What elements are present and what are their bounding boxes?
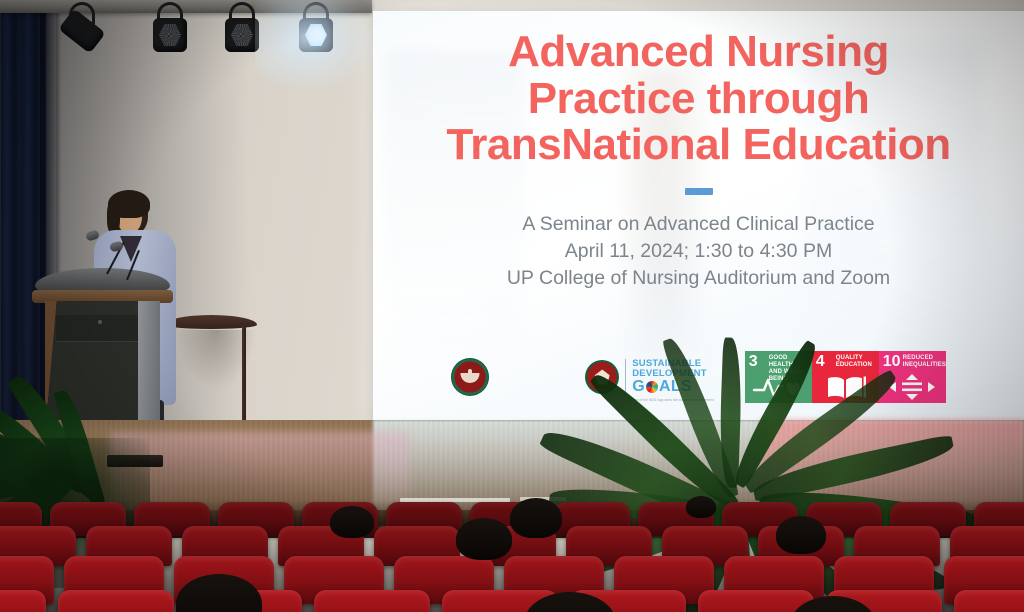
presentation-slide: Advanced Nursing Practice through TransN… [373,11,1024,420]
sdg-tile-4-label: QUALITYEDUCATION [836,355,872,369]
slide-title-line-1: Advanced Nursing [387,29,1010,76]
microphone-2-stem [126,250,140,280]
microphone-2 [96,238,166,282]
microphone-2-head [109,241,124,253]
slide-subtitle-line-1: A Seminar on Advanced Clinical Practice [387,211,1010,238]
stage-light-4-icon [296,4,336,60]
podium-panel [56,315,146,341]
title-divider [685,188,713,195]
auditorium-photo: Advanced Nursing Practice through TransN… [0,0,1024,612]
sdg-tile-10-label: REDUCEDINEQUALITIES [903,355,946,369]
slide-title: Advanced Nursing Practice through TransN… [387,29,1010,169]
audience-member-head [330,506,374,538]
audience-member-head [510,498,562,538]
slide-subtitle-line-3: UP College of Nursing Auditorium and Zoo… [387,265,1010,292]
audience-seat [0,590,46,612]
sdg-tile-10-number: 10 [883,354,901,370]
audience-member-head [776,516,826,554]
projection-screen: Advanced Nursing Practice through TransN… [373,11,1024,420]
table-leg [242,326,246,422]
audience-seat [314,590,430,612]
stage-light-2-icon [150,4,190,60]
audience-seating [0,500,1024,612]
audience-seat [58,590,174,612]
stage-light-1-icon [62,4,102,60]
sdg-tile-3-number: 3 [749,354,758,370]
stage-light-3-icon [222,4,262,60]
up-college-of-nursing-seal-icon [451,358,489,396]
podium-knob [98,320,102,324]
title-divider-wrap [387,188,1010,195]
slide-subtitle-line-2: April 11, 2024; 1:30 to 4:30 PM [387,238,1010,265]
audience-member-head [456,518,512,560]
audience-seat [954,590,1024,612]
audience-member-head [686,496,716,518]
sdg-tile-4-number: 4 [816,354,825,370]
slide-title-line-3: TransNational Education [387,122,1010,169]
slide-title-line-2: Practice through [387,76,1010,123]
slide-subtitle: A Seminar on Advanced Clinical Practice … [387,211,1010,292]
